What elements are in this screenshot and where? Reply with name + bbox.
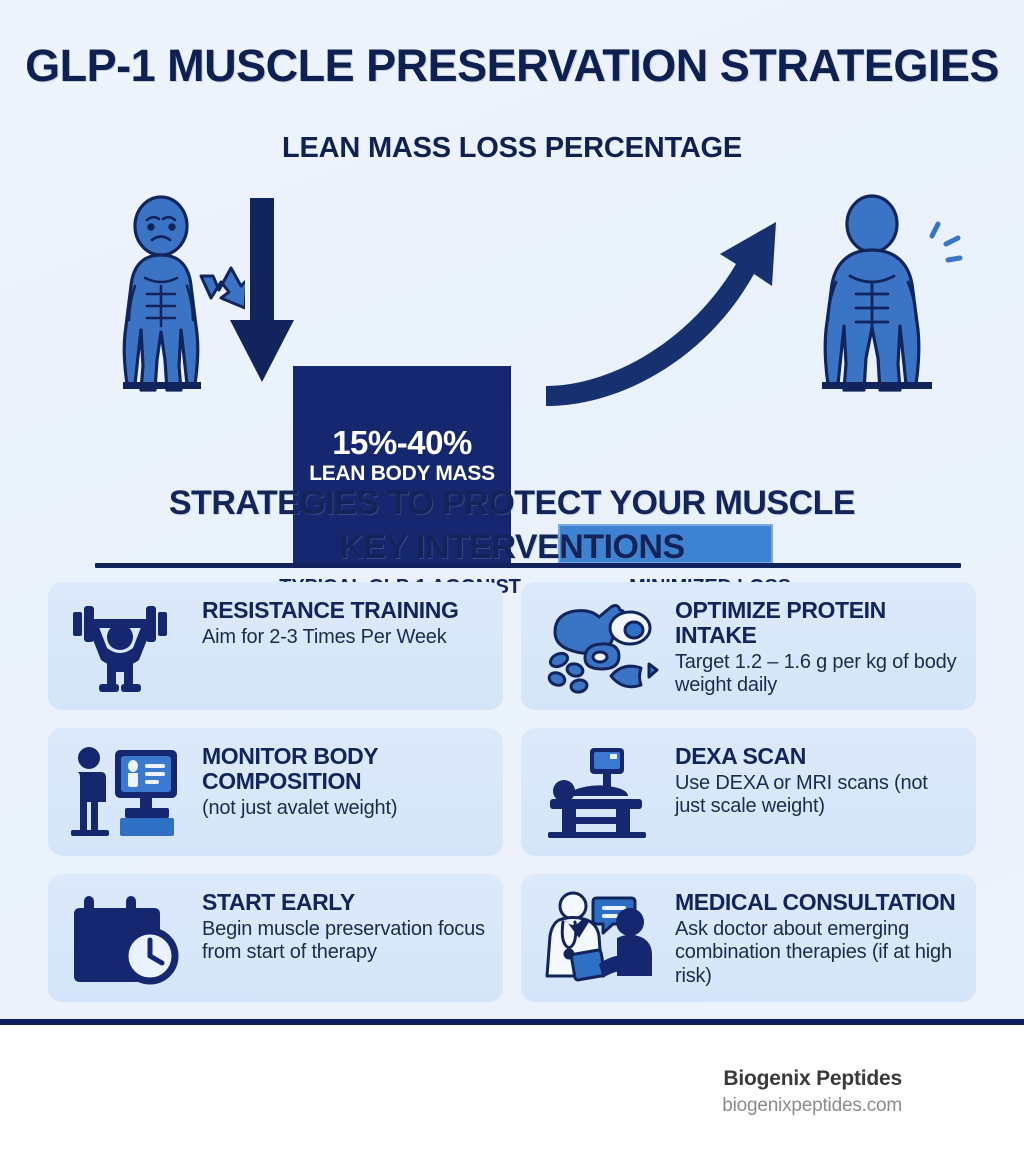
footer: Biogenix Peptides biogenixpeptides.com (0, 1025, 1024, 1154)
section-heading-line1: STRATEGIES TO PROTECT YOUR MUSCLE (0, 482, 1024, 526)
card-detail: Ask doctor about emerging combination th… (675, 918, 962, 989)
card-detail: Aim for 2-3 Times Per Week (202, 626, 459, 650)
strategy-card[interactable]: RESISTANCE TRAINING Aim for 2-3 Times Pe… (48, 582, 503, 710)
card-detail: Use DEXA or MRI scans (not just scale we… (675, 772, 962, 819)
strategy-card[interactable]: MEDICAL CONSULTATION Ask doctor about em… (521, 874, 976, 1002)
card-heading: START EARLY (202, 890, 489, 915)
lean-mass-loss-chart: 15%-40% LEAN BODY MASS (0, 180, 1024, 470)
bar-value-label: 15%-40% (293, 424, 511, 462)
brand-website: biogenixpeptides.com (722, 1095, 902, 1117)
card-detail: (not just avalet weight) (202, 797, 489, 821)
strategy-card[interactable]: DEXA SCAN Use DEXA or MRI scans (not jus… (521, 728, 976, 856)
card-detail: Target 1.2 – 1.6 g per kg of body weight… (675, 651, 962, 698)
infographic-poster: GLP-1 MUSCLE PRESERVATION STRATEGIES LEA… (0, 0, 1024, 1022)
card-heading: OPTIMIZE PROTEIN INTAKE (675, 598, 962, 648)
calendar-clock-icon (60, 886, 192, 990)
card-heading: RESISTANCE TRAINING (202, 598, 459, 623)
section-heading: STRATEGIES TO PROTECT YOUR MUSCLE KEY IN… (0, 482, 1024, 569)
strategy-card-grid: RESISTANCE TRAINING Aim for 2-3 Times Pe… (48, 582, 976, 1002)
card-heading: MEDICAL CONSULTATION (675, 890, 962, 915)
page-title: GLP-1 MUSCLE PRESERVATION STRATEGIES (0, 40, 1024, 92)
up-arrow-icon (540, 210, 790, 410)
dexa-scanner-icon (533, 740, 665, 844)
doctor-consultation-icon (533, 886, 665, 990)
card-heading: MONITOR BODY COMPOSITION (202, 744, 489, 794)
brand-name: Biogenix Peptides (723, 1067, 902, 1091)
strong-muscle-figure-icon (800, 194, 970, 409)
down-arrow-icon (222, 194, 302, 409)
sparkle-icon (932, 224, 960, 260)
protein-foods-icon (533, 594, 665, 698)
card-detail: Begin muscle preservation focus from sta… (202, 918, 489, 965)
strategy-card[interactable]: OPTIMIZE PROTEIN INTAKE Target 1.2 – 1.6… (521, 582, 976, 710)
chart-title: LEAN MASS LOSS PERCENTAGE (0, 132, 1024, 165)
strategy-card[interactable]: START EARLY Begin muscle preservation fo… (48, 874, 503, 1002)
card-heading: DEXA SCAN (675, 744, 962, 769)
strategy-card[interactable]: MONITOR BODY COMPOSITION (not just avale… (48, 728, 503, 856)
section-heading-line2: KEY INTERVENTIONS (0, 526, 1024, 570)
weightlifter-icon (60, 594, 192, 698)
body-composition-scan-icon (60, 740, 192, 844)
